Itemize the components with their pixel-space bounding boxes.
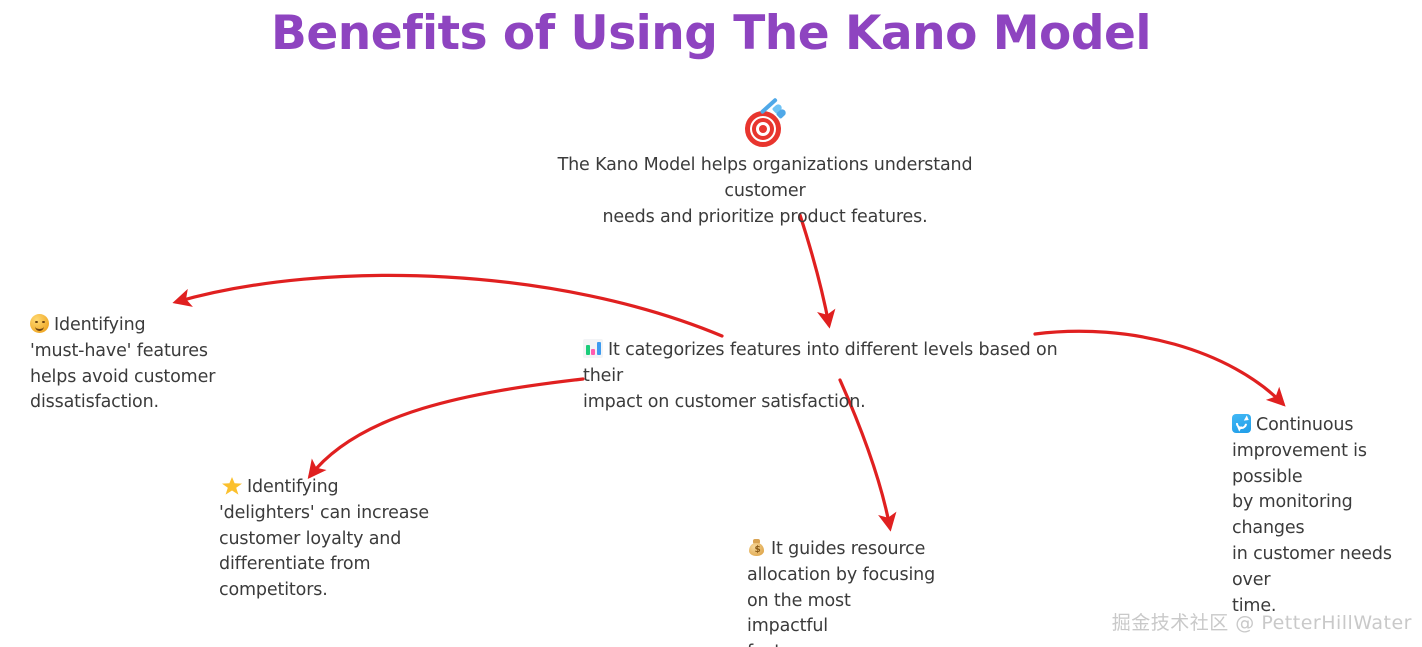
node-resources-line-3: on the most impactful [747, 589, 937, 641]
watermark: 掘金技术社区 @ PetterHillWater [1112, 608, 1412, 635]
node-continuous[interactable]: Continuous improvement is possible by mo… [1232, 413, 1422, 619]
node-delighters-line-1: Identifying [247, 477, 338, 497]
node-continuous-line-2: improvement is possible [1232, 439, 1422, 491]
node-must-have[interactable]: Identifying 'must-have' features helps a… [30, 313, 235, 416]
star-icon [222, 476, 242, 495]
node-root-line-1: The Kano Model helps organizations under… [540, 153, 990, 205]
mindmap-canvas: Benefits of Using The Kano Model The Kan… [0, 0, 1422, 647]
node-continuous-line-3: by monitoring changes [1232, 490, 1422, 542]
bar-chart-icon [583, 339, 603, 358]
node-categorizes-line-1: It categorizes features into different l… [583, 340, 1058, 386]
edge-root-to-categorizes [800, 215, 829, 325]
node-delighters-line-2: 'delighters' can increase [219, 501, 429, 527]
edge-categorizes-to-delighters [310, 379, 583, 476]
target-dart-icon [743, 105, 787, 149]
node-continuous-line-4: in customer needs over [1232, 542, 1422, 594]
node-must-have-line-1-row: Identifying [30, 313, 235, 339]
node-must-have-line-2: 'must-have' features [30, 339, 235, 365]
node-resources-line-1-row: $ It guides resource [747, 537, 937, 563]
node-must-have-line-4: dissatisfaction. [30, 390, 235, 416]
node-delighters[interactable]: Identifying 'delighters' can increase cu… [219, 475, 429, 604]
node-delighters-line-3: customer loyalty and [219, 527, 429, 553]
node-root[interactable]: The Kano Model helps organizations under… [540, 105, 990, 230]
node-resources-line-4: features. [747, 640, 937, 647]
node-resources-line-2: allocation by focusing [747, 563, 937, 589]
node-delighters-line-5: competitors. [219, 578, 429, 604]
node-continuous-line-1: Continuous [1256, 415, 1353, 435]
node-root-line-2: needs and prioritize product features. [540, 205, 990, 231]
node-must-have-line-1: Identifying [54, 315, 145, 335]
node-categorizes-line-1-row: It categorizes features into different l… [583, 338, 1073, 390]
node-delighters-line-4: differentiate from [219, 552, 429, 578]
money-bag-icon: $ [747, 538, 766, 557]
smiling-face-icon [30, 314, 49, 333]
node-resources-line-1: It guides resource [771, 539, 925, 559]
node-resources[interactable]: $ It guides resource allocation by focus… [747, 537, 937, 647]
node-must-have-line-3: helps avoid customer [30, 365, 235, 391]
node-delighters-line-1-row: Identifying [219, 475, 429, 501]
page-title: Benefits of Using The Kano Model [0, 6, 1422, 61]
refresh-icon [1232, 414, 1251, 433]
edge-categorizes-to-must-have [176, 275, 722, 336]
node-continuous-line-1-row: Continuous [1232, 413, 1422, 439]
node-categorizes[interactable]: It categorizes features into different l… [583, 338, 1073, 415]
node-categorizes-line-2: impact on customer satisfaction. [583, 390, 1073, 416]
